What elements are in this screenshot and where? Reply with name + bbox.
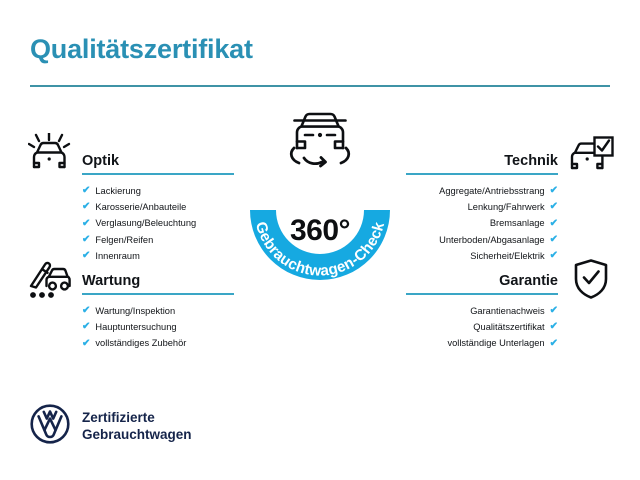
car-shine-icon [28,133,72,180]
checklist-item-label: Hauptuntersuchung [95,319,176,335]
checklist-item-label: Qualitätszertifikat [473,319,544,335]
check-icon: ✔ [82,306,90,316]
section-optik-header: Optik [82,145,234,171]
checklist-item-label: Sicherheit/Elektrik [470,248,544,264]
check-icon: ✔ [82,202,90,212]
checklist-item: ✔Wartung/Inspektion [82,303,234,319]
footer-logo-text: Zertifizierte Gebrauchtwagen [82,410,192,443]
check-icon: ✔ [550,219,558,229]
checklist-item: ✔Lenkung/Fahrwerk [406,199,558,215]
checklist-item-label: Wartung/Inspektion [95,303,175,319]
checklist-item-label: Karosserie/Anbauteile [95,199,186,215]
car-checkbox-icon [568,136,614,179]
section-technik-list: ✔Aggregate/Antriebsstrang✔Lenkung/Fahrwe… [406,183,558,264]
section-optik: Optik ✔Lackierung✔Karosserie/Anbauteile✔… [82,145,234,264]
check-icon: ✔ [550,186,558,196]
checklist-item-label: Lackierung [95,183,140,199]
checklist-item: ✔Aggregate/Antriebsstrang [406,183,558,199]
checklist-item: ✔vollständiges Zubehör [82,335,234,351]
section-garantie-header: Garantie [406,265,558,291]
checklist-item-label: Innenraum [95,248,139,264]
certificate-page: Qualitätszertifikat [0,0,640,480]
section-garantie-divider [406,293,558,295]
volkswagen-logo [30,404,70,449]
checklist-item: ✔Lackierung [82,183,234,199]
checklist-item: ✔Verglasung/Beleuchtung [82,215,234,231]
shield-check-icon [572,258,610,305]
volkswagen-logo-lockup: Zertifizierte Gebrauchtwagen [30,404,192,449]
page-title: Qualitätszertifikat [30,34,253,65]
checklist-item-label: Unterboden/Abgasanlage [439,232,544,248]
checklist-item: ✔Qualitätszertifikat [406,319,558,335]
checklist-item: ✔Sicherheit/Elektrik [406,248,558,264]
footer-line-1: Zertifizierte [82,410,155,425]
checklist-item-label: vollständige Unterlagen [447,335,544,351]
car-service-dipstick-icon [26,258,72,305]
checklist-item: ✔Garantienachweis [406,303,558,319]
check-icon: ✔ [82,322,90,332]
checklist-item-label: Lenkung/Fahrwerk [468,199,545,215]
section-wartung: Wartung ✔Wartung/Inspektion✔Hauptuntersu… [82,265,234,352]
car-360-rotation-icon [280,108,360,175]
section-wartung-header: Wartung [82,265,234,291]
check-icon: ✔ [82,339,90,349]
check-icon: ✔ [550,339,558,349]
section-technik-header: Technik [406,145,558,171]
checklist-item-label: vollständiges Zubehör [95,335,186,351]
section-optik-divider [82,173,234,175]
checklist-item-label: Garantienachweis [470,303,544,319]
360-check-badge: Gebrauchtwagen-Check 360° [228,118,412,302]
footer-line-2: Gebrauchtwagen [82,427,192,442]
checklist-item: ✔Unterboden/Abgasanlage [406,232,558,248]
checklist-item: ✔Karosserie/Anbauteile [82,199,234,215]
check-icon: ✔ [82,251,90,261]
badge-center-label: 360° [228,214,412,248]
section-technik-divider [406,173,558,175]
section-wartung-list: ✔Wartung/Inspektion✔Hauptuntersuchung✔vo… [82,303,234,352]
check-icon: ✔ [82,219,90,229]
check-icon: ✔ [550,251,558,261]
section-garantie: Garantie ✔Garantienachweis✔Qualitätszert… [406,265,558,352]
section-technik-title: Technik [504,153,558,169]
section-wartung-divider [82,293,234,295]
section-optik-title: Optik [82,153,119,169]
section-wartung-title: Wartung [82,273,140,289]
checklist-item: ✔Felgen/Reifen [82,232,234,248]
check-icon: ✔ [550,306,558,316]
check-icon: ✔ [550,202,558,212]
checklist-item: ✔Innenraum [82,248,234,264]
checklist-item-label: Bremsanlage [490,215,545,231]
check-icon: ✔ [82,235,90,245]
checklist-item: ✔Hauptuntersuchung [82,319,234,335]
check-icon: ✔ [550,322,558,332]
section-garantie-title: Garantie [499,273,558,289]
section-technik: Technik ✔Aggregate/Antriebsstrang✔Lenkun… [406,145,558,264]
checklist-item: ✔Bremsanlage [406,215,558,231]
checklist-item: ✔vollständige Unterlagen [406,335,558,351]
checklist-item-label: Verglasung/Beleuchtung [95,215,196,231]
check-icon: ✔ [550,235,558,245]
checklist-item-label: Aggregate/Antriebsstrang [439,183,544,199]
checklist-item-label: Felgen/Reifen [95,232,153,248]
title-divider [30,85,610,87]
section-garantie-list: ✔Garantienachweis✔Qualitätszertifikat✔vo… [406,303,558,352]
check-icon: ✔ [82,186,90,196]
section-optik-list: ✔Lackierung✔Karosserie/Anbauteile✔Vergla… [82,183,234,264]
